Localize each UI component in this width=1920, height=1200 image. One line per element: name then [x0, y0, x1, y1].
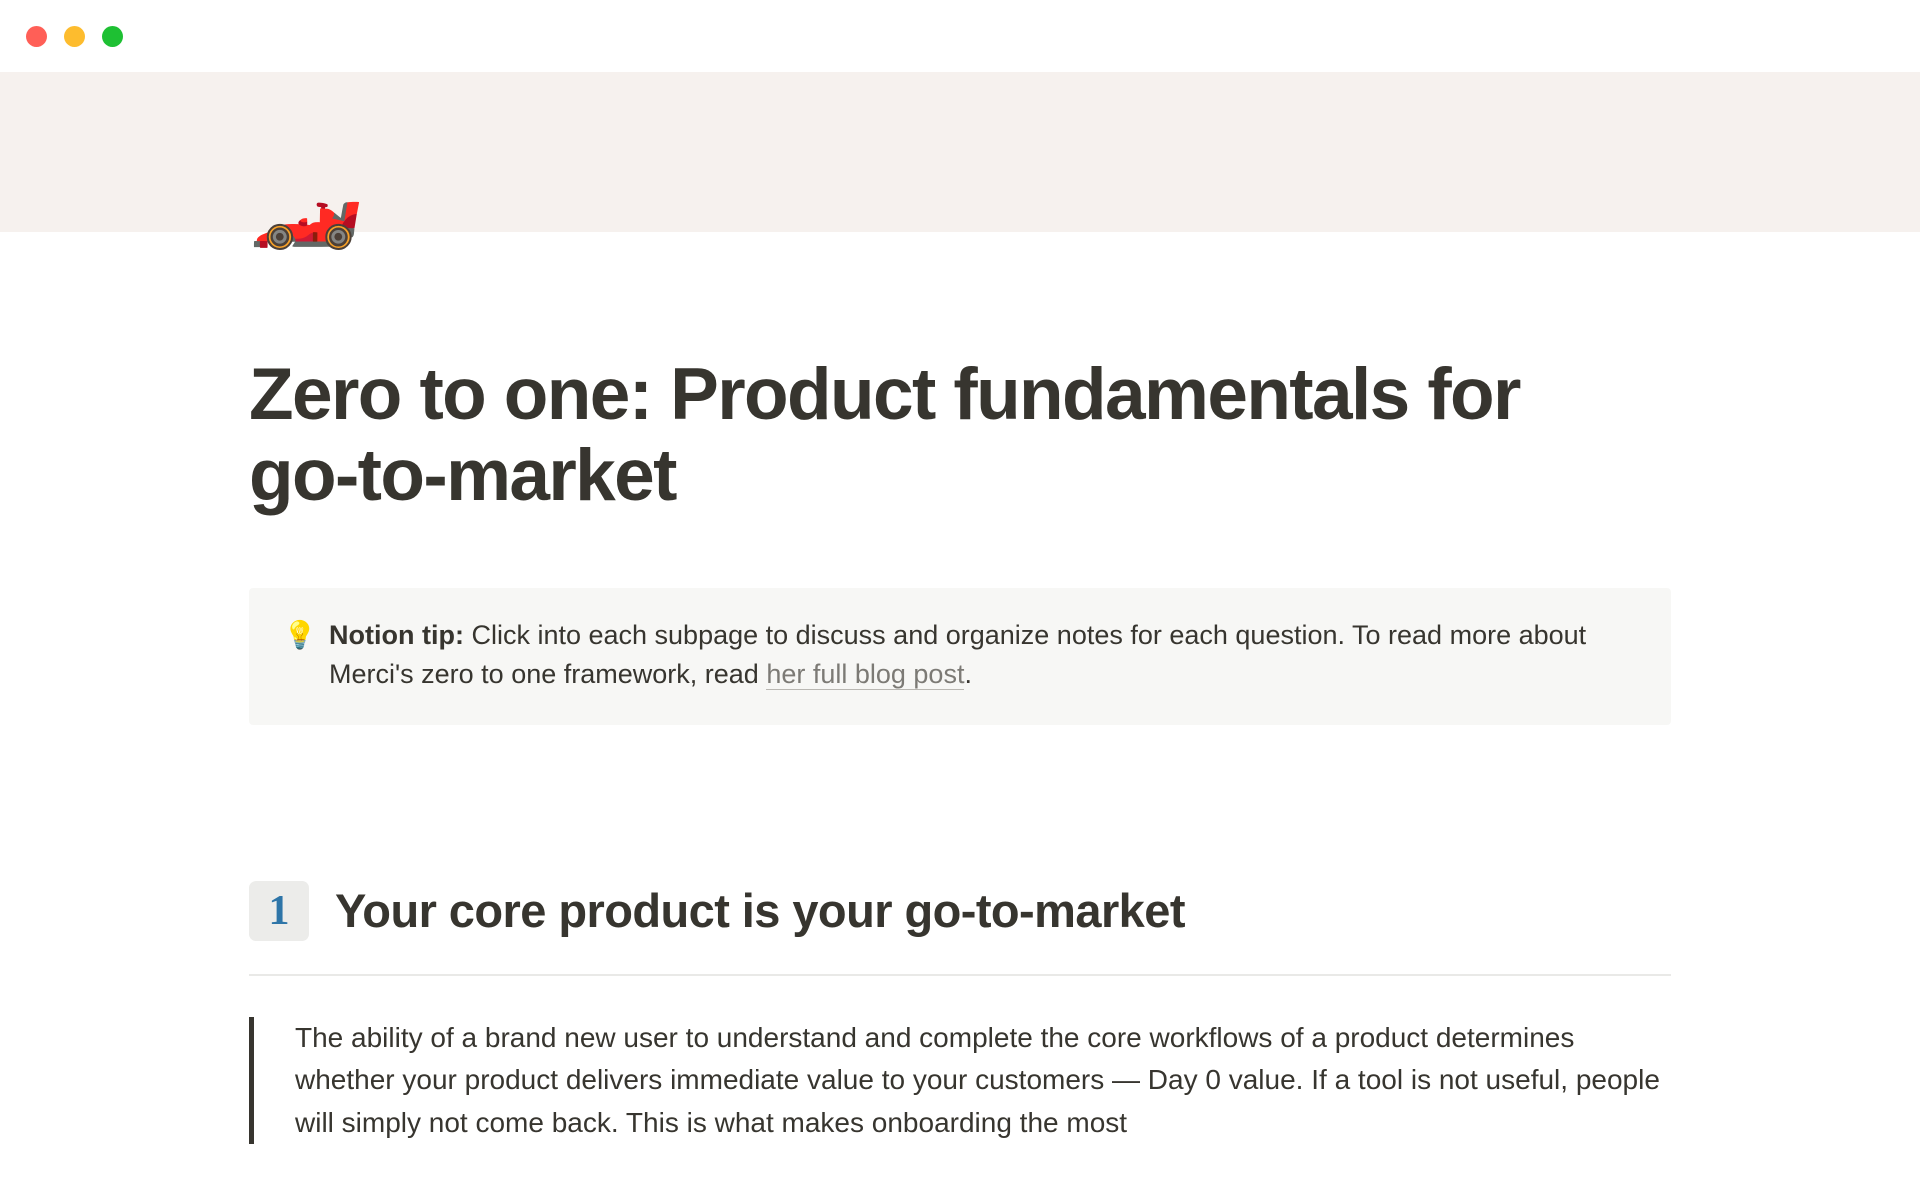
section-number-badge: 1	[249, 881, 309, 941]
section-heading: 1 Your core product is your go-to-market	[249, 881, 1671, 941]
notion-tip-callout[interactable]: 💡 Notion tip: Click into each subpage to…	[249, 588, 1671, 725]
traffic-light-controls	[26, 26, 123, 47]
callout-text: Notion tip: Click into each subpage to d…	[329, 616, 1637, 695]
blog-post-link[interactable]: her full blog post	[766, 659, 964, 690]
section-divider	[249, 974, 1671, 976]
maximize-window-button[interactable]	[102, 26, 123, 47]
window-title-bar	[0, 0, 1920, 72]
callout-body-after-link: .	[964, 659, 972, 689]
page-content-column: 🏎️ Zero to one: Product fundamentals for…	[249, 232, 1671, 1144]
section-title[interactable]: Your core product is your go-to-market	[335, 883, 1185, 939]
minimize-window-button[interactable]	[64, 26, 85, 47]
section-quote-block[interactable]: The ability of a brand new user to under…	[249, 1017, 1671, 1145]
race-car-icon[interactable]: 🏎️	[249, 154, 369, 264]
light-bulb-icon: 💡	[283, 616, 329, 655]
page-body: 🏎️ Zero to one: Product fundamentals for…	[0, 232, 1920, 1144]
close-window-button[interactable]	[26, 26, 47, 47]
page-title[interactable]: Zero to one: Product fundamentals for go…	[249, 232, 1639, 516]
callout-lead-label: Notion tip:	[329, 620, 464, 650]
